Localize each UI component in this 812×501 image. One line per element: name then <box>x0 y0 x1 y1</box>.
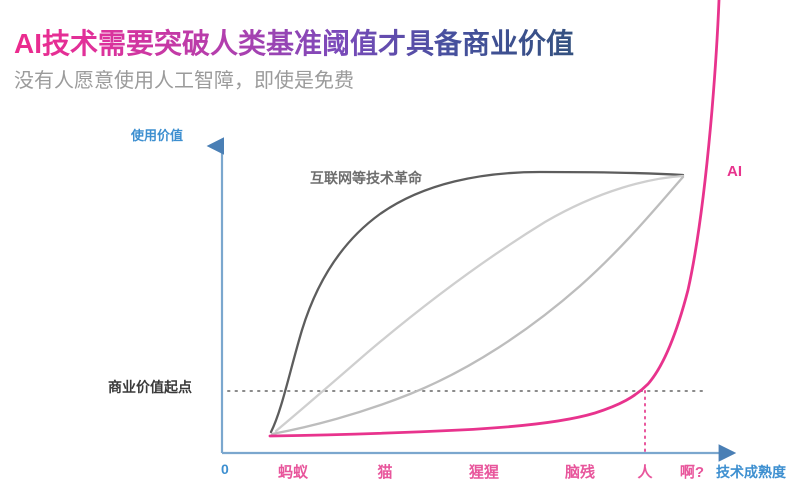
curve-tech-slow <box>272 177 683 434</box>
threshold-label: 商业价值起点 <box>108 377 192 397</box>
ai-curve-label: AI <box>727 163 742 180</box>
curve-tech-medium <box>276 176 683 431</box>
slide-root: AI技术需要突破人类基准阈值才具备商业价值 没有人愿意使用人工智障，即使是免费 … <box>0 0 812 501</box>
origin-label: 0 <box>221 461 229 477</box>
x-tick-label-1: 猫 <box>377 461 392 482</box>
tech-revolution-label: 互联网等技术革命 <box>310 168 422 188</box>
curve-tech-revolution <box>271 172 683 432</box>
x-tick-label-4: 人 <box>637 461 652 482</box>
x-tick-label-5: 啊? <box>680 461 704 482</box>
x-tick-label-3: 脑残 <box>565 461 595 482</box>
x-axis-label: 技术成熟度 <box>716 462 786 482</box>
x-tick-label-0: 蚂蚁 <box>278 461 308 482</box>
chart-canvas <box>0 0 812 501</box>
y-axis-label: 使用价值 <box>131 125 183 144</box>
curve-ai <box>270 0 719 436</box>
x-tick-label-2: 猩猩 <box>469 461 499 482</box>
